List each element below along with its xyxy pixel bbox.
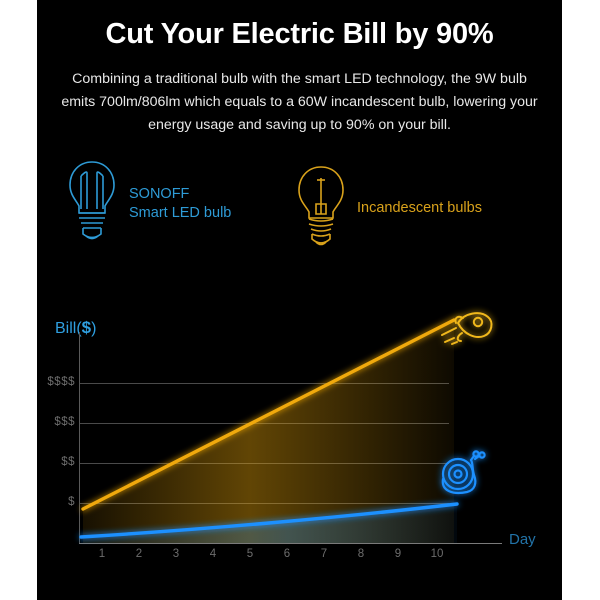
x-axis-ticks: 1 2 3 4 5 6 7 8 9 10: [79, 548, 457, 568]
x-tick-label-3: 3: [164, 548, 188, 560]
bill-comparison-chart: Bill($) $$$$ $$$ $$ $: [37, 290, 562, 590]
x-tick-label-5: 5: [238, 548, 262, 560]
x-tick-label-7: 7: [312, 548, 336, 560]
legend-label-sonoff-led: SONOFF Smart LED bulb: [129, 185, 231, 223]
led-bulb-icon: [65, 158, 119, 249]
plot-area: [37, 290, 562, 590]
x-axis-title: Day: [509, 531, 536, 548]
x-tick-label-8: 8: [349, 548, 373, 560]
x-tick-label-1: 1: [90, 548, 114, 560]
legend-item-sonoff-led: SONOFF Smart LED bulb: [65, 158, 231, 249]
dark-canvas: Cut Your Electric Bill by 90% Combining …: [37, 0, 562, 600]
page-subtitle: Combining a traditional bulb with the sm…: [55, 68, 544, 137]
legend-item-incandescent: Incandescent bulbs: [295, 164, 482, 253]
x-tick-label-9: 9: [386, 548, 410, 560]
legend-label-incandescent: Incandescent bulbs: [357, 199, 482, 218]
x-tick-label-6: 6: [275, 548, 299, 560]
x-tick-label-2: 2: [127, 548, 151, 560]
x-tick-label-10: 10: [425, 548, 449, 560]
incandescent-bulb-icon: [295, 164, 347, 253]
legend: SONOFF Smart LED bulb: [37, 158, 562, 258]
page-title: Cut Your Electric Bill by 90%: [37, 18, 562, 51]
poster-root: Cut Your Electric Bill by 90% Combining …: [0, 0, 600, 600]
x-tick-label-4: 4: [201, 548, 225, 560]
